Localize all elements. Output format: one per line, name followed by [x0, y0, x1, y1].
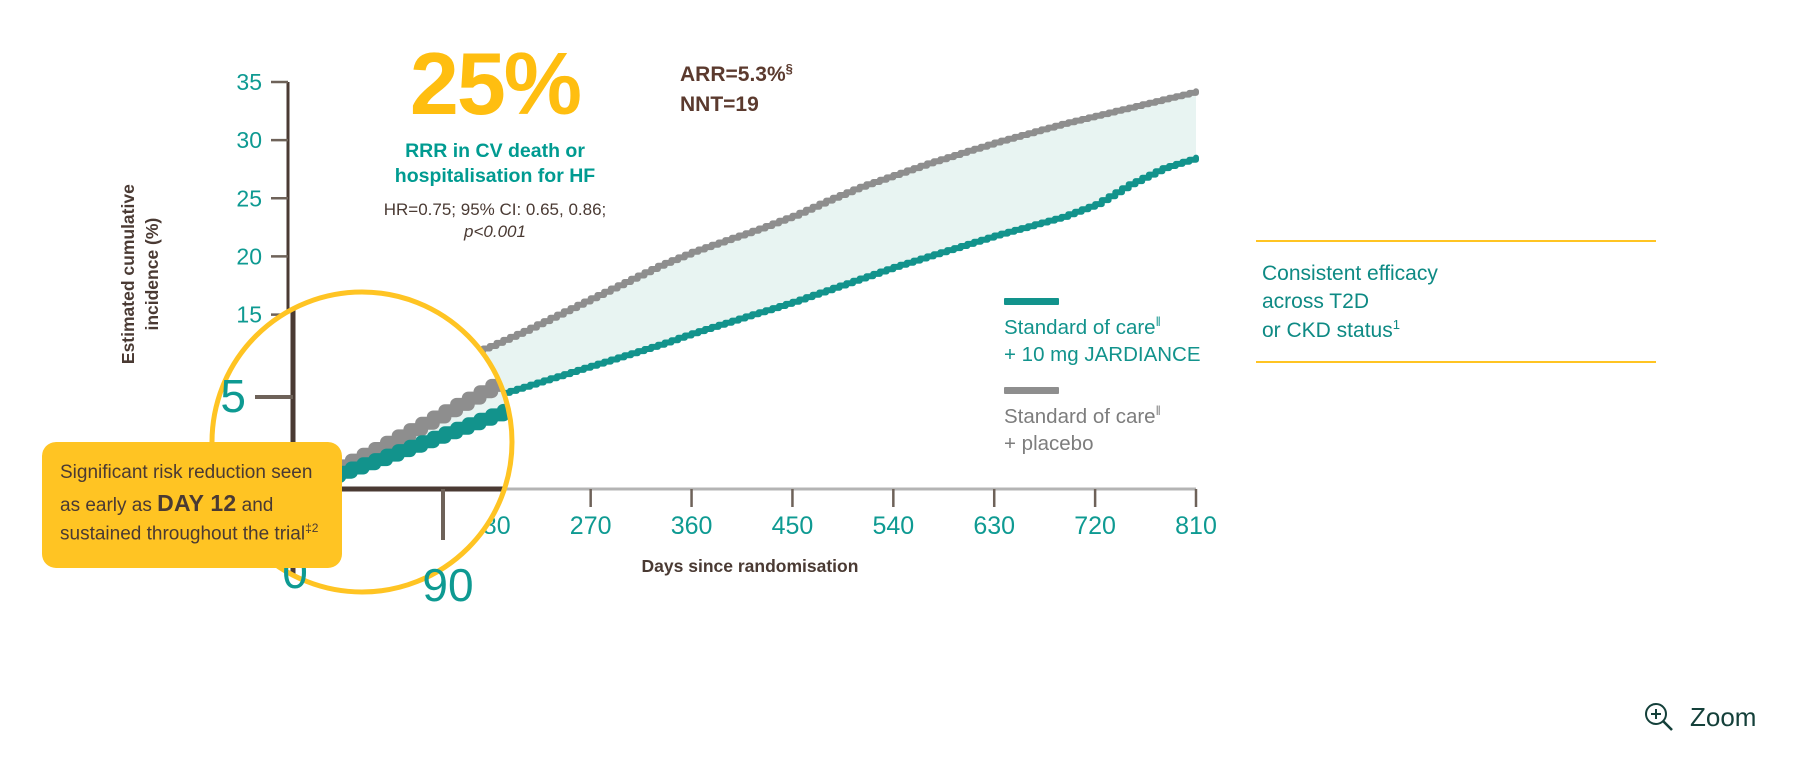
legend-jardiance-line2: + 10 mg JARDIANCE	[1004, 343, 1201, 366]
legend-swatch-jardiance	[1004, 298, 1059, 305]
hazard-ratio-line: HR=0.75; 95% CI: 0.65, 0.86;	[384, 200, 607, 219]
x-tick-label-810: 810	[1175, 512, 1217, 540]
x-tick-label-720: 720	[1074, 512, 1116, 540]
chart-figure: 101520253035 180270360450540630720810	[0, 0, 1808, 776]
arr-nnt-block: ARR=5.3%§ NNT=19	[680, 60, 793, 120]
y-tick-label-30: 30	[236, 127, 262, 153]
x-tick-label-450: 450	[772, 512, 814, 540]
x-axis-title: Days since randomisation	[480, 556, 1020, 577]
efficacy-callout-text: Consistent efficacy across T2D or CKD st…	[1256, 242, 1656, 361]
nnt-label: NNT=19	[680, 90, 793, 120]
zoom-in-icon	[1642, 700, 1676, 734]
x-tick-label-360: 360	[671, 512, 713, 540]
kaplan-meier-chart: 101520253035 180270360450540630720810	[0, 0, 1808, 776]
legend-item-placebo[interactable]: Standard of care‖ + placebo	[1004, 387, 1254, 458]
hazard-ratio-text: HR=0.75; 95% CI: 0.65, 0.86; p<0.001	[360, 199, 630, 244]
legend-placebo-line2: + placebo	[1004, 432, 1093, 455]
legend-placebo-footnote: ‖	[1156, 404, 1161, 418]
lens-y-label-5: 5	[220, 370, 246, 422]
legend-jardiance-footnote: ‖	[1156, 315, 1161, 329]
zoom-button[interactable]: Zoom	[1642, 700, 1756, 734]
risk-callout-emphasis: DAY 12	[157, 490, 236, 516]
legend-label-jardiance: Standard of care‖ + 10 mg JARDIANCE	[1004, 314, 1254, 369]
efficacy-footnote-marker: 1	[1393, 317, 1400, 332]
y-tick-label-35: 35	[236, 69, 262, 95]
y-tick-label-15: 15	[236, 302, 262, 328]
arr-row: ARR=5.3%§	[680, 60, 793, 90]
y-tick-label-20: 20	[236, 243, 262, 269]
arr-label: ARR=5.3%	[680, 63, 786, 86]
rrr-caption-line1: RRR in CV death or	[405, 140, 585, 162]
legend-jardiance-line1: Standard of care	[1004, 316, 1156, 339]
lens-x-label-90: 90	[422, 559, 473, 611]
legend-swatch-placebo	[1004, 387, 1059, 394]
efficacy-callout-rule-bottom	[1256, 361, 1656, 363]
rrr-caption-line2: hospitalisation for HF	[395, 165, 595, 187]
x-tick-label-270: 270	[570, 512, 612, 540]
y-axis-title-line2: incidence (%)	[142, 218, 162, 331]
efficacy-line2: across T2D	[1262, 290, 1369, 313]
legend-label-placebo: Standard of care‖ + placebo	[1004, 403, 1254, 458]
x-tick-label-540: 540	[872, 512, 914, 540]
y-axis-title-line1: Estimated cumulative	[118, 184, 138, 364]
rrr-caption: RRR in CV death or hospitalisation for H…	[360, 139, 630, 189]
risk-callout-footnote-marker: ‡2	[305, 521, 318, 535]
p-value: p<0.001	[464, 222, 526, 241]
chart-legend: Standard of care‖ + 10 mg JARDIANCE Stan…	[1004, 298, 1254, 475]
y-axis-title: Estimated cumulative incidence (%)	[116, 124, 164, 424]
zoom-button-label: Zoom	[1690, 702, 1756, 733]
x-axis-tick-labels: 180270360450540630720810	[469, 512, 1217, 540]
efficacy-callout: Consistent efficacy across T2D or CKD st…	[1256, 240, 1656, 363]
efficacy-line3: or CKD status	[1262, 319, 1393, 342]
rrr-value: 25%	[360, 44, 630, 125]
legend-item-jardiance[interactable]: Standard of care‖ + 10 mg JARDIANCE	[1004, 298, 1254, 369]
rrr-statistic-block: 25% RRR in CV death or hospitalisation f…	[360, 44, 630, 244]
y-tick-label-25: 25	[236, 185, 262, 211]
risk-reduction-callout: Significant risk reduction seen as early…	[42, 442, 342, 568]
arr-footnote-marker: §	[786, 61, 793, 76]
efficacy-line1: Consistent efficacy	[1262, 262, 1438, 285]
x-tick-label-630: 630	[973, 512, 1015, 540]
legend-placebo-line1: Standard of care	[1004, 405, 1156, 428]
